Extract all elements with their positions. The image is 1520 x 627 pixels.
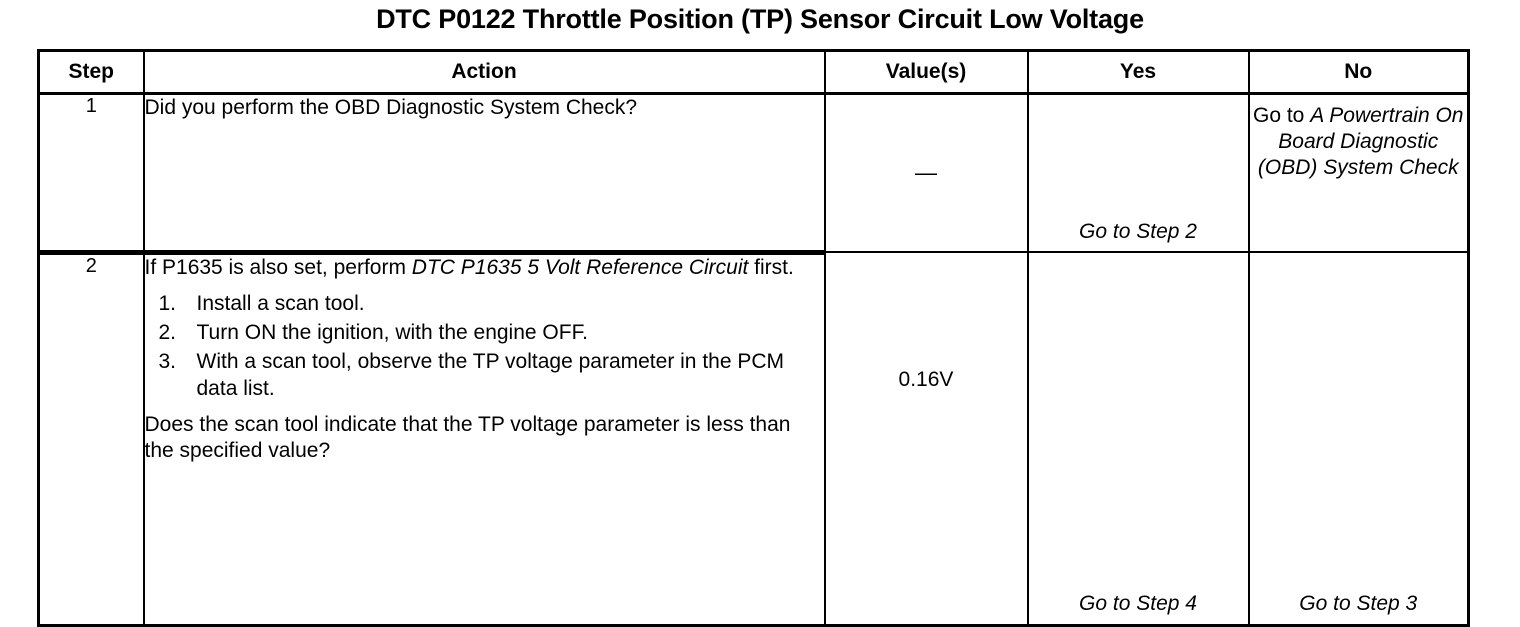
list-item: 2. Turn ON the ignition, with the engine… <box>145 320 824 347</box>
column-header-no: No <box>1249 51 1469 94</box>
value-measurement: 0.16V <box>899 368 954 391</box>
lead-in-text-before: If P1635 is also set, perform <box>145 256 412 279</box>
no-goto-prefix: Go to <box>1253 104 1310 127</box>
yes-goto-label: Go to Step 4 <box>1079 592 1197 615</box>
step-no-action: Go to Step 3 <box>1249 252 1469 626</box>
table-row: 2 If P1635 is also set, perform DTC P163… <box>39 252 1469 626</box>
step-yes-action: Go to Step 4 <box>1028 252 1249 626</box>
step-action: Did you perform the OBD Diagnostic Syste… <box>144 94 825 253</box>
list-item-label: Install a scan tool. <box>197 292 365 315</box>
procedure-list: 1. Install a scan tool. 2. Turn ON the i… <box>145 291 824 403</box>
step-question: Did you perform the OBD Diagnostic Syste… <box>145 95 824 121</box>
diagnostic-table: Step Action Value(s) Yes No 1 Did you pe… <box>37 49 1470 627</box>
step-lead-in: If P1635 is also set, perform DTC P1635 … <box>145 255 824 281</box>
step-number: 1 <box>39 94 144 253</box>
yes-goto-label: Go to Step 2 <box>1079 220 1197 243</box>
list-item-label: With a scan tool, observe the TP voltage… <box>197 350 785 400</box>
table-header-row: Step Action Value(s) Yes No <box>39 51 1469 94</box>
list-item: 1. Install a scan tool. <box>145 291 824 318</box>
column-header-value: Value(s) <box>825 51 1028 94</box>
list-item-number: 3. <box>159 349 177 376</box>
no-goto-label: Go to Step 3 <box>1299 592 1417 615</box>
list-item-number: 1. <box>159 291 177 318</box>
step-number: 2 <box>39 252 144 626</box>
step-no-action: Go to A Powertrain On Board Diagnostic (… <box>1249 94 1469 253</box>
list-item-label: Turn ON the ignition, with the engine OF… <box>197 321 588 344</box>
lead-in-reference: DTC P1635 5 Volt Reference Circuit <box>412 256 749 279</box>
list-item-number: 2. <box>159 320 177 347</box>
column-header-yes: Yes <box>1028 51 1249 94</box>
column-header-action: Action <box>144 51 825 94</box>
step-action: If P1635 is also set, perform DTC P1635 … <box>144 252 825 626</box>
step-question: Does the scan tool indicate that the TP … <box>145 412 824 463</box>
table-row: 1 Did you perform the OBD Diagnostic Sys… <box>39 94 1469 253</box>
step-value: 0.16V <box>825 252 1028 626</box>
value-dash: — <box>915 160 937 185</box>
list-item: 3. With a scan tool, observe the TP volt… <box>145 349 824 403</box>
step-yes-action: Go to Step 2 <box>1028 94 1249 253</box>
document-page: DTC P0122 Throttle Position (TP) Sensor … <box>0 0 1520 536</box>
lead-in-text-after: first. <box>748 256 794 279</box>
page-title: DTC P0122 Throttle Position (TP) Sensor … <box>0 4 1520 35</box>
step-value: — <box>825 94 1028 253</box>
column-header-step: Step <box>39 51 144 94</box>
